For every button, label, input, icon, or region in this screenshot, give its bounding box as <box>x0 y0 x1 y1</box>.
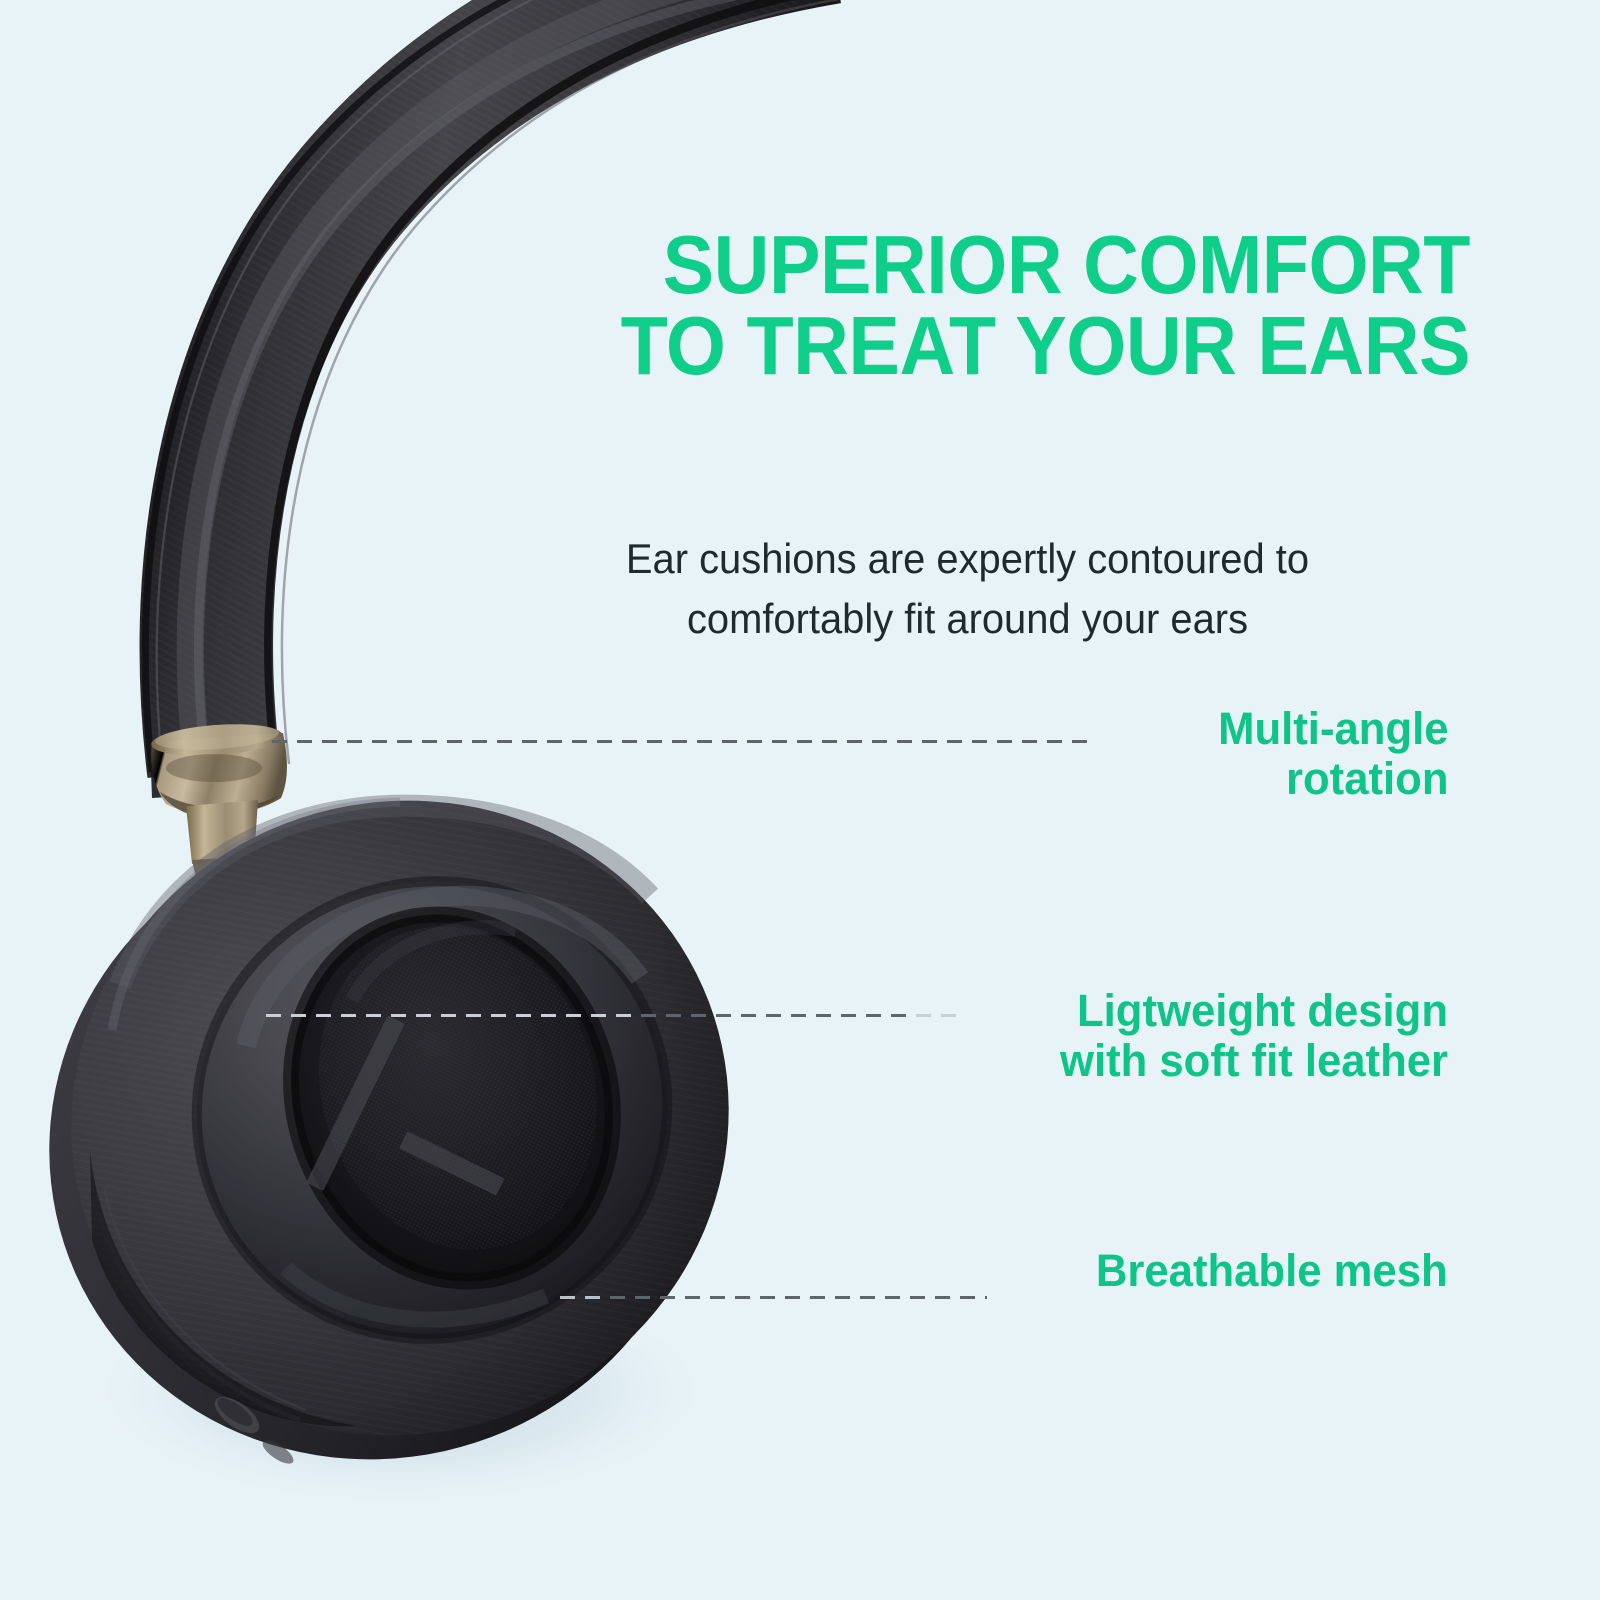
callout-line-1: Multi-angle <box>1218 704 1448 754</box>
port-slot <box>259 1436 297 1468</box>
control-button <box>209 1390 265 1440</box>
headband <box>130 0 900 798</box>
hinge-assembly <box>150 720 287 878</box>
hinge-ring <box>151 733 287 815</box>
earcup-pad-ring <box>137 820 727 1400</box>
product-shadow <box>80 1270 720 1510</box>
callout-lightweight-design: Ligtweight design with soft fit leather <box>1060 986 1448 1087</box>
hinge-ring-top <box>150 720 284 759</box>
earcup-cavity <box>244 872 659 1323</box>
callout-line-2: rotation <box>1218 754 1448 804</box>
headline-line-2: TO TREAT YOUR EARS <box>475 305 1470 386</box>
subtitle-line-2: comfortably fit around your ears <box>495 589 1440 649</box>
earcup-cushion <box>0 715 811 1520</box>
earcup-rim-highlight <box>120 806 650 985</box>
headline-line-1: SUPERIOR COMFORT <box>663 218 1470 311</box>
leader-line-breathable-mesh <box>560 1296 987 1299</box>
infographic-canvas: SUPERIOR COMFORT TO TREAT YOUR EARS Ear … <box>0 0 1600 1600</box>
subtitle: Ear cushions are expertly contoured to c… <box>495 529 1440 648</box>
callout-multi-angle-rotation: Multi-angle rotation <box>1218 704 1448 805</box>
leader-segment <box>272 740 1096 743</box>
subtitle-line-1: Ear cushions are expertly contoured to <box>495 529 1440 589</box>
ear-cup <box>0 715 811 1600</box>
callout-line-2: with soft fit leather <box>1060 1036 1448 1086</box>
earcup-back-shell <box>0 739 789 1544</box>
earcup-edge-band <box>96 1200 300 1420</box>
headband-tip <box>150 736 282 798</box>
headline: SUPERIOR COMFORT TO TREAT YOUR EARS <box>475 224 1470 387</box>
channel-marking-L <box>306 1015 504 1195</box>
leader-line-multi-angle-rotation <box>272 740 1096 743</box>
callout-line-1: Ligtweight design <box>1060 986 1448 1036</box>
earcup-mesh <box>278 890 638 1286</box>
callout-breathable-mesh: Breathable mesh <box>1096 1246 1448 1296</box>
leader-line-lightweight-design <box>266 1014 906 1017</box>
hinge-post <box>186 800 258 864</box>
callout-line-1: Breathable mesh <box>1096 1246 1448 1296</box>
leader-segment-over-background <box>560 1296 987 1299</box>
